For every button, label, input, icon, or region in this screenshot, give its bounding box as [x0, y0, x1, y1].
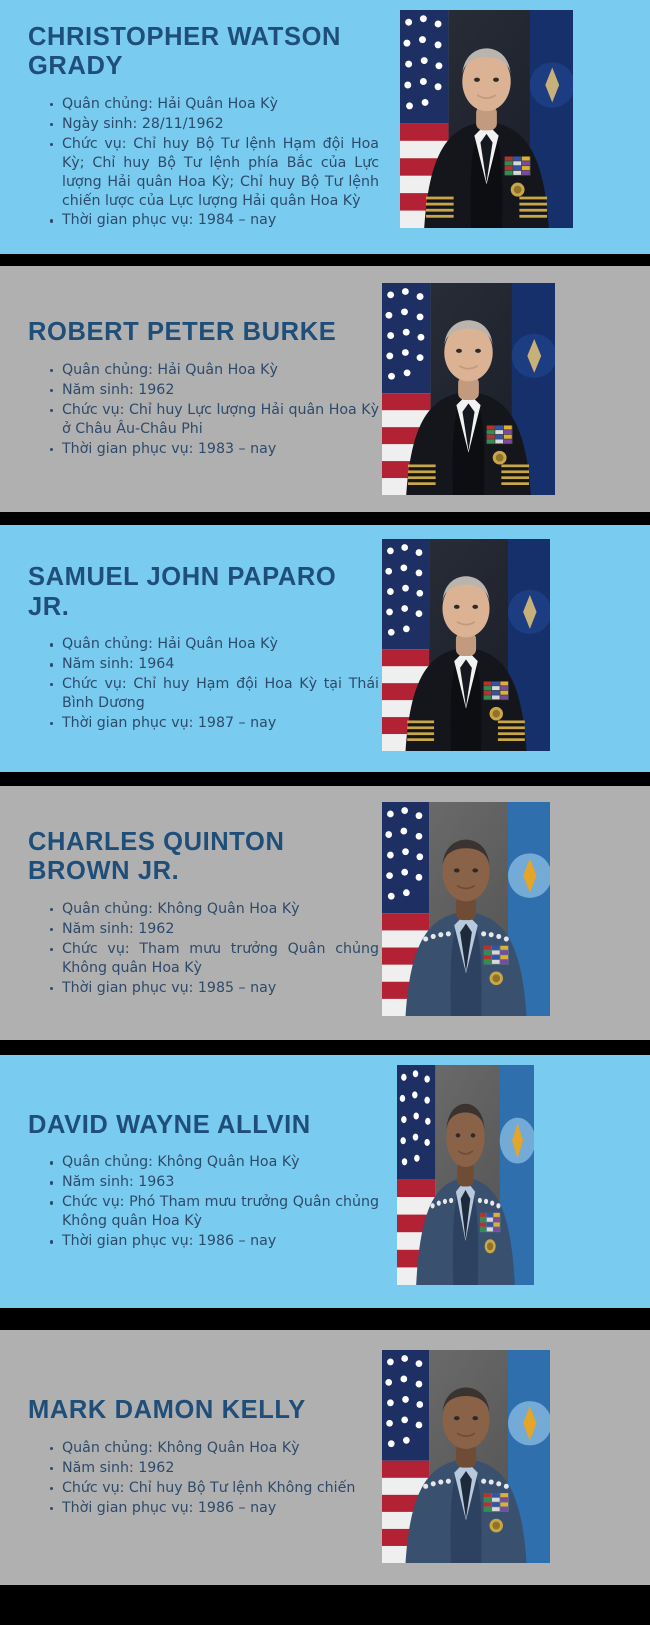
portrait-photo — [382, 283, 555, 495]
section-divider-1 — [0, 254, 650, 266]
fact-item: Năm sinh: 1963 — [50, 1173, 379, 1192]
fact-item: Quân chủng: Không Quân Hoa Kỳ — [50, 1439, 379, 1458]
fact-item: Năm sinh: 1962 — [50, 1459, 379, 1478]
portrait-photo — [382, 802, 550, 1016]
fact-item: Thời gian phục vụ: 1986 – nay — [50, 1499, 379, 1518]
person-card-3: SAMUEL JOHN PAPARO JR.Quân chủng: Hải Qu… — [0, 525, 650, 772]
person-card-6: MARK DAMON KELLYQuân chủng: Không Quân H… — [0, 1330, 650, 1585]
fact-item: Quân chủng: Hải Quân Hoa Kỳ — [50, 95, 379, 114]
fact-item: Chức vụ: Chỉ huy Bộ Tư lệnh Hạm đội Hoa … — [50, 135, 379, 211]
card-text-column: CHRISTOPHER WATSON GRADYQuân chủng: Hải … — [0, 23, 385, 232]
card-layout: DAVID WAYNE ALLVINQuân chủng: Không Quân… — [0, 1055, 650, 1308]
card-text-column: SAMUEL JOHN PAPARO JR.Quân chủng: Hải Qu… — [0, 563, 385, 734]
section-divider-4 — [0, 1040, 650, 1055]
fact-item: Năm sinh: 1964 — [50, 655, 379, 674]
fact-item: Năm sinh: 1962 — [50, 381, 379, 400]
fact-item: Chức vụ: Chỉ huy Lực lượng Hải quân Hoa … — [50, 401, 379, 439]
section-divider-2 — [0, 512, 650, 525]
card-text-column: ROBERT PETER BURKEQuân chủng: Hải Quân H… — [0, 318, 385, 459]
fact-item: Chức vụ: Tham mưu trưởng Quân chủng Khôn… — [50, 940, 379, 978]
portrait-photo — [397, 1065, 534, 1285]
section-divider-5 — [0, 1308, 650, 1330]
section-divider-3 — [0, 772, 650, 786]
fact-item: Chức vụ: Chỉ huy Bộ Tư lệnh Không chiến — [50, 1479, 379, 1498]
person-facts-list: Quân chủng: Hải Quân Hoa KỳNgày sinh: 28… — [28, 95, 379, 231]
fact-item: Thời gian phục vụ: 1985 – nay — [50, 979, 379, 998]
card-text-column: CHARLES QUINTON BROWN JR.Quân chủng: Khô… — [0, 828, 385, 999]
person-facts-list: Quân chủng: Không Quân Hoa KỳNăm sinh: 1… — [28, 1153, 379, 1251]
fact-item: Thời gian phục vụ: 1983 – nay — [50, 440, 379, 459]
portrait-photo — [382, 539, 550, 751]
person-facts-list: Quân chủng: Không Quân Hoa KỳNăm sinh: 1… — [28, 900, 379, 998]
person-facts-list: Quân chủng: Hải Quân Hoa KỳNăm sinh: 196… — [28, 361, 379, 459]
fact-item: Năm sinh: 1962 — [50, 920, 379, 939]
fact-item: Thời gian phục vụ: 1986 – nay — [50, 1232, 379, 1251]
fact-item: Ngày sinh: 28/11/1962 — [50, 115, 379, 134]
fact-item: Quân chủng: Không Quân Hoa Kỳ — [50, 900, 379, 919]
person-name: ROBERT PETER BURKE — [28, 318, 379, 348]
portrait-photo — [400, 10, 573, 228]
fact-item: Chức vụ: Phó Tham mưu trưởng Quân chủng … — [50, 1193, 379, 1231]
card-layout: SAMUEL JOHN PAPARO JR.Quân chủng: Hải Qu… — [0, 525, 650, 772]
fact-item: Quân chủng: Hải Quân Hoa Kỳ — [50, 361, 379, 380]
card-layout: MARK DAMON KELLYQuân chủng: Không Quân H… — [0, 1330, 650, 1585]
person-card-4: CHARLES QUINTON BROWN JR.Quân chủng: Khô… — [0, 786, 650, 1040]
person-card-1: CHRISTOPHER WATSON GRADYQuân chủng: Hải … — [0, 0, 650, 254]
person-facts-list: Quân chủng: Không Quân Hoa KỳNăm sinh: 1… — [28, 1439, 379, 1518]
fact-item: Thời gian phục vụ: 1984 – nay — [50, 211, 379, 230]
fact-item: Quân chủng: Không Quân Hoa Kỳ — [50, 1153, 379, 1172]
section-divider-6 — [0, 1585, 650, 1625]
portrait-photo — [382, 1350, 550, 1563]
card-text-column: DAVID WAYNE ALLVINQuân chủng: Không Quân… — [0, 1111, 385, 1252]
card-text-column: MARK DAMON KELLYQuân chủng: Không Quân H… — [0, 1396, 385, 1518]
person-name: CHRISTOPHER WATSON GRADY — [28, 23, 379, 82]
person-name: DAVID WAYNE ALLVIN — [28, 1111, 379, 1141]
fact-item: Quân chủng: Hải Quân Hoa Kỳ — [50, 635, 379, 654]
person-name: CHARLES QUINTON BROWN JR. — [28, 828, 379, 887]
person-name: SAMUEL JOHN PAPARO JR. — [28, 563, 379, 622]
person-card-2: ROBERT PETER BURKEQuân chủng: Hải Quân H… — [0, 266, 650, 512]
fact-item: Thời gian phục vụ: 1987 – nay — [50, 714, 379, 733]
fact-item: Chức vụ: Chỉ huy Hạm đội Hoa Kỳ tại Thái… — [50, 675, 379, 713]
person-card-5: DAVID WAYNE ALLVINQuân chủng: Không Quân… — [0, 1055, 650, 1308]
infographic-root: CHRISTOPHER WATSON GRADYQuân chủng: Hải … — [0, 0, 650, 1625]
card-layout: CHARLES QUINTON BROWN JR.Quân chủng: Khô… — [0, 786, 650, 1040]
person-name: MARK DAMON KELLY — [28, 1396, 379, 1426]
person-facts-list: Quân chủng: Hải Quân Hoa KỳNăm sinh: 196… — [28, 635, 379, 733]
